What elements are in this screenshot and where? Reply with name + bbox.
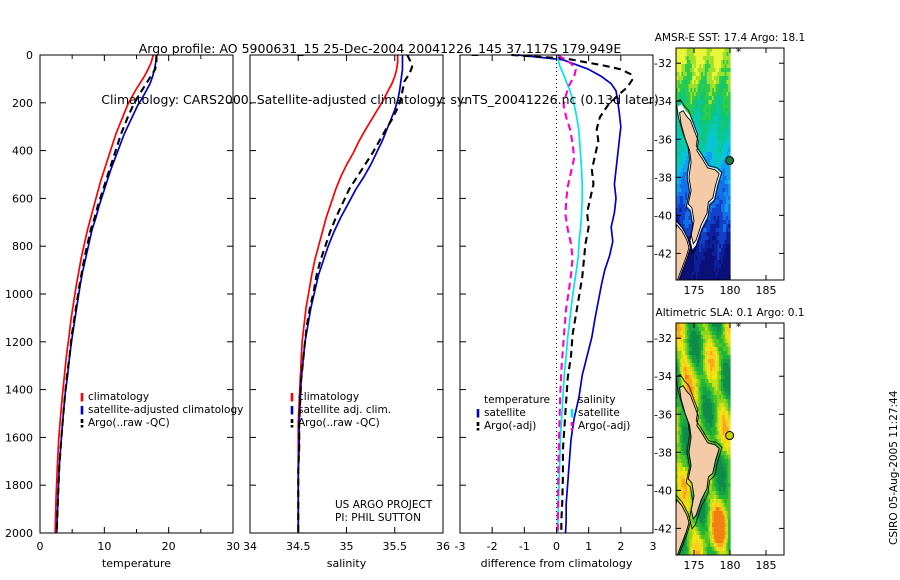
map-data-cell xyxy=(728,495,730,500)
map-data-cell xyxy=(728,252,730,257)
map-data-cell xyxy=(728,232,730,237)
map-data-cell xyxy=(728,176,730,181)
map-data-cell xyxy=(728,391,730,396)
x-axis-label: difference from climatology xyxy=(481,557,633,570)
map-data-cell xyxy=(728,523,730,528)
map-data-cell xyxy=(728,188,730,193)
map-data-cell xyxy=(728,212,730,217)
map-data-cell xyxy=(728,359,730,364)
map-data-cell xyxy=(728,531,730,536)
map-data-cell xyxy=(728,407,730,412)
title-line-1: Argo profile: AO 5900631_15 25-Dec-2004 … xyxy=(0,40,760,57)
map-x-tick-label: 185 xyxy=(756,284,777,297)
x-tick-label: 1 xyxy=(585,540,592,553)
map-data-cell xyxy=(728,208,730,213)
figure-title: Argo profile: AO 5900631_15 25-Dec-2004 … xyxy=(0,6,760,142)
map-data-cell xyxy=(728,447,730,452)
argo-float-marker xyxy=(726,432,734,440)
map-data-cell xyxy=(728,535,730,540)
map-data-cell xyxy=(728,427,730,432)
x-axis-label: temperature xyxy=(102,557,171,570)
map-content: * xyxy=(671,321,784,561)
map-y-tick-label: -40 xyxy=(654,484,672,497)
y-tick-label: 2000 xyxy=(5,527,33,540)
map-data-cell xyxy=(728,499,730,504)
map-data-cell xyxy=(728,379,730,384)
map-data-cell xyxy=(728,451,730,456)
map-data-cell xyxy=(728,220,730,225)
y-tick-label: 1000 xyxy=(5,288,33,301)
map-data-cell xyxy=(728,248,730,253)
map-y-tick-label: -42 xyxy=(654,247,672,260)
map-x-tick-label: 180 xyxy=(720,284,741,297)
map-data-cell xyxy=(728,455,730,460)
argo-float-marker xyxy=(726,157,734,165)
map-data-cell xyxy=(728,411,730,416)
map-data-cell xyxy=(728,216,730,221)
x-tick-label: -1 xyxy=(519,540,530,553)
map-data-cell xyxy=(728,487,730,492)
map-data-cell xyxy=(728,339,730,344)
map-sla-map: *175180185-32-34-36-38-40-42Altimetric S… xyxy=(654,307,804,572)
y-tick-label: 400 xyxy=(12,145,33,158)
x-axis-label: salinity xyxy=(327,557,367,570)
map-data-cell xyxy=(728,395,730,400)
x-tick-label: 3 xyxy=(650,540,657,553)
legend-label: temperature xyxy=(484,394,550,406)
map-data-cell xyxy=(728,503,730,508)
argo-profile-figure: Argo profile: AO 5900631_15 25-Dec-2004 … xyxy=(0,0,900,580)
legend-label: salinity xyxy=(578,394,616,406)
project-line-2: PI: PHIL SUTTON xyxy=(335,512,421,524)
map-data-cell xyxy=(728,415,730,420)
map-data-cell xyxy=(728,331,730,336)
title-line-2: Climatology: CARS2000. Satellite-adjuste… xyxy=(0,91,760,108)
map-y-tick-label: -36 xyxy=(654,408,672,421)
map-data-cell xyxy=(728,168,730,173)
map-data-cell xyxy=(728,459,730,464)
map-data-cell xyxy=(728,192,730,197)
map-y-tick-label: -42 xyxy=(654,522,672,535)
map-title: Altimetric SLA: 0.1 Argo: 0.1 xyxy=(656,307,805,319)
map-y-tick-label: -32 xyxy=(654,332,672,345)
map-data-cell xyxy=(728,371,730,376)
map-data-cell xyxy=(728,224,730,229)
legend-label: satellite xyxy=(484,407,526,419)
x-tick-label: 36 xyxy=(436,540,450,553)
map-data-cell xyxy=(728,491,730,496)
x-tick-label: 0 xyxy=(37,540,44,553)
map-data-cell xyxy=(728,471,730,476)
x-tick-label: 34.5 xyxy=(286,540,311,553)
map-data-cell xyxy=(728,204,730,209)
y-tick-label: 1800 xyxy=(5,479,33,492)
x-tick-label: 35 xyxy=(340,540,354,553)
map-data-cell xyxy=(728,511,730,516)
map-data-cell xyxy=(728,355,730,360)
map-data-cell xyxy=(728,236,730,241)
legend-label: Argo(..raw -QC) xyxy=(88,417,170,429)
map-data-cell xyxy=(728,399,730,404)
x-tick-label: 0 xyxy=(553,540,560,553)
y-tick-label: 1400 xyxy=(5,384,33,397)
map-x-tick-label: 175 xyxy=(684,284,705,297)
map-data-cell xyxy=(728,172,730,177)
map-data-cell xyxy=(728,148,730,153)
map-data-cell xyxy=(728,144,730,149)
map-data-cell xyxy=(728,343,730,348)
csiro-timestamp: CSIRO 05-Aug-2005 11:27:44 xyxy=(888,391,900,545)
legend-label: satellite-adjusted climatology xyxy=(88,404,243,416)
map-data-cell xyxy=(728,387,730,392)
map-data-cell xyxy=(728,152,730,157)
map-data-cell xyxy=(728,256,730,261)
y-tick-label: 1600 xyxy=(5,431,33,444)
map-data-cell xyxy=(728,367,730,372)
map-data-cell xyxy=(728,363,730,368)
map-data-cell xyxy=(728,419,730,424)
map-y-tick-label: -38 xyxy=(654,171,672,184)
map-x-tick-label: 175 xyxy=(684,559,705,572)
map-data-cell xyxy=(728,467,730,472)
map-data-cell xyxy=(728,519,730,524)
map-y-tick-label: -40 xyxy=(654,209,672,222)
x-tick-label: 35.5 xyxy=(383,540,408,553)
x-tick-label: -2 xyxy=(487,540,498,553)
legend-label: satellite xyxy=(578,407,620,419)
map-data-cell xyxy=(728,475,730,480)
map-data-cell xyxy=(728,228,730,233)
map-data-cell xyxy=(728,184,730,189)
legend-label: climatology xyxy=(298,391,359,403)
map-data-cell xyxy=(728,335,730,340)
x-tick-label: 20 xyxy=(162,540,176,553)
map-x-tick-label: 180 xyxy=(720,559,741,572)
map-data-cell xyxy=(728,200,730,205)
x-tick-label: 10 xyxy=(97,540,111,553)
map-data-cell xyxy=(728,264,730,269)
x-tick-label: 34 xyxy=(243,540,257,553)
map-data-cell xyxy=(728,543,730,548)
x-tick-label: 30 xyxy=(226,540,240,553)
map-data-cell xyxy=(728,507,730,512)
map-data-cell xyxy=(728,515,730,520)
map-data-cell xyxy=(728,383,730,388)
legend-label: Argo(-adj) xyxy=(578,420,630,432)
map-data-cell xyxy=(728,483,730,488)
map-data-cell xyxy=(728,268,730,273)
map-data-cell xyxy=(728,539,730,544)
y-tick-label: 600 xyxy=(12,192,33,205)
map-data-cell xyxy=(728,240,730,245)
map-data-cell xyxy=(728,479,730,484)
map-data-cell xyxy=(728,347,730,352)
map-data-cell xyxy=(728,196,730,201)
map-data-cell xyxy=(728,527,730,532)
x-tick-label: -3 xyxy=(455,540,466,553)
y-tick-label: 1200 xyxy=(5,336,33,349)
map-data-cell xyxy=(728,463,730,468)
map-data-cell xyxy=(728,375,730,380)
map-data-cell xyxy=(728,260,730,265)
map-data-cell xyxy=(728,180,730,185)
legend-label: satellite adj. clim. xyxy=(298,404,391,416)
legend-label: climatology xyxy=(88,391,149,403)
legend-label: Argo(-adj) xyxy=(484,420,536,432)
project-line-1: US ARGO PROJECT xyxy=(335,499,433,511)
x-tick-label: 2 xyxy=(617,540,624,553)
map-data-cell xyxy=(728,244,730,249)
map-y-tick-label: -34 xyxy=(654,370,672,383)
map-data-cell xyxy=(728,403,730,408)
map-data-cell xyxy=(728,423,730,428)
map-data-cell xyxy=(728,443,730,448)
map-x-tick-label: 185 xyxy=(756,559,777,572)
y-tick-label: 800 xyxy=(12,240,33,253)
map-y-tick-label: -38 xyxy=(654,446,672,459)
legend-label: Argo(..raw -QC) xyxy=(298,417,380,429)
map-data-cell xyxy=(728,351,730,356)
